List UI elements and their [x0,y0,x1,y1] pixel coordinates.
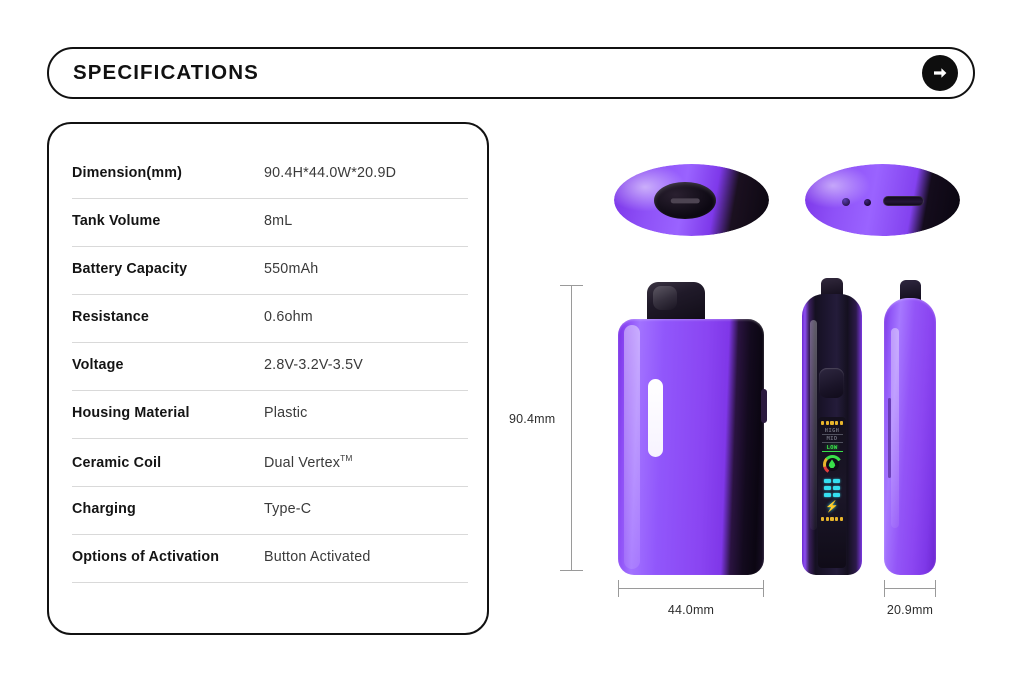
screen-bottom-dashes-icon [821,517,843,521]
spec-label: Resistance [72,295,264,325]
height-dimension-line [571,285,572,571]
product-bottom-view-ports [805,164,960,236]
gloss-highlight [810,320,817,530]
reset-hole-icon [864,199,871,206]
page-title: SPECIFICATIONS [73,61,259,85]
spec-label: Tank Volume [72,199,264,229]
spec-value: Dual VertexTM [264,439,353,471]
table-row: Battery Capacity 550mAh [72,247,468,295]
product-top-view-mouthpiece [614,164,769,236]
spec-value: 90.4H*44.0W*20.9D [264,151,396,181]
power-button[interactable] [819,368,844,398]
product-front-view [618,282,764,575]
table-row: Housing Material Plastic [72,391,468,439]
table-tail-space [72,583,468,619]
side-button [761,389,767,423]
gloss-highlight [624,325,640,569]
trademark-mark: TM [340,453,353,463]
product-image-area: HIGH MID LOW ⚡ [500,122,1010,652]
battery-segments-icon [824,479,841,498]
spec-label: Dimension(mm) [72,151,264,181]
table-row: Charging Type-C [72,487,468,535]
width-dimension-label: 44.0mm [618,603,764,617]
spec-value: Plastic [264,391,308,421]
device-body [618,319,764,575]
spec-value: Type-C [264,487,311,517]
gloss-highlight [891,328,899,528]
air-hole-icon [842,198,850,206]
spec-label: Housing Material [72,391,264,421]
depth-dimension-line [884,588,936,589]
table-row: Tank Volume 8mL [72,199,468,247]
height-dimension-label: 90.4mm [509,412,555,426]
spec-label: Voltage [72,343,264,373]
spec-label: Battery Capacity [72,247,264,277]
seam-line [888,398,891,478]
tank-window [648,379,663,457]
width-dimension-line [618,588,764,589]
spec-label: Charging [72,487,264,517]
arrow-right-button[interactable] [922,55,958,91]
product-side-view-screen: HIGH MID LOW ⚡ [802,278,862,575]
airflow-slit [671,198,700,203]
oil-level-droplet-icon [823,455,842,474]
header-bar: SPECIFICATIONS [47,47,975,99]
specifications-card: Dimension(mm) 90.4H*44.0W*20.9D Tank Vol… [47,122,489,635]
power-level-mid: MID [822,436,843,443]
spec-label: Ceramic Coil [72,441,264,471]
specification-page: SPECIFICATIONS Dimension(mm) 90.4H*44.0W… [0,0,1024,683]
table-row: Voltage 2.8V-3.2V-3.5V [72,343,468,391]
device-body [884,298,936,575]
specifications-table: Dimension(mm) 90.4H*44.0W*20.9D Tank Vol… [72,151,468,619]
table-row: Options of Activation Button Activated [72,535,468,583]
arrow-right-icon [930,63,950,83]
product-profile-view [884,280,936,575]
table-row: Resistance 0.6ohm [72,295,468,343]
device-body: HIGH MID LOW ⚡ [802,294,862,575]
spec-value-text: Dual Vertex [264,455,340,471]
spec-value: Button Activated [264,535,371,565]
usb-c-port-icon [883,196,925,207]
spec-label: Options of Activation [72,535,264,565]
spec-value: 550mAh [264,247,318,277]
screen-top-dashes-icon [821,421,843,425]
spec-value: 8mL [264,199,292,229]
spec-value: 0.6ohm [264,295,313,325]
depth-dimension-label: 20.9mm [860,603,960,617]
lightning-bolt-icon: ⚡ [825,502,839,513]
device-screen: HIGH MID LOW ⚡ [818,417,846,568]
power-level-high: HIGH [822,428,843,435]
power-level-low: LOW [822,445,843,452]
spec-value: 2.8V-3.2V-3.5V [264,343,363,373]
table-row: Ceramic Coil Dual VertexTM [72,439,468,487]
droplet-glyph [829,459,836,468]
table-row: Dimension(mm) 90.4H*44.0W*20.9D [72,151,468,199]
